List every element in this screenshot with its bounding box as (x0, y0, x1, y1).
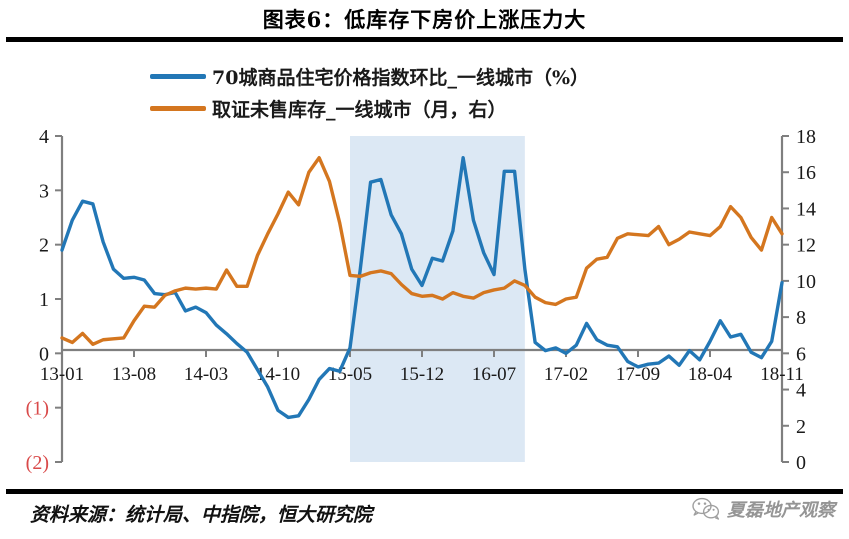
right-axis-label: 16 (796, 162, 816, 184)
x-axis-label: 18-04 (688, 364, 733, 385)
right-axis-label: 2 (796, 416, 806, 438)
left-axis-label: 2 (39, 235, 49, 257)
footer-divider (6, 489, 843, 494)
right-axis-label: 6 (796, 343, 806, 365)
watermark-label: 夏磊地产观察 (727, 496, 835, 522)
left-axis-label: 1 (39, 289, 49, 311)
x-axis-label: 14-03 (184, 364, 228, 385)
right-axis-label: 10 (796, 271, 816, 293)
x-axis-label: 13-08 (112, 364, 156, 385)
right-axis-label: 0 (796, 452, 806, 474)
left-axis-label: (1) (26, 398, 49, 420)
x-axis-label: 14-10 (256, 364, 300, 385)
highlight-band (350, 136, 525, 462)
x-axis-label: 16-07 (472, 364, 516, 385)
x-axis-label: 13-01 (40, 364, 84, 385)
chart-svg: 43210(1)(2)18161412108642013-0113-0814-0… (0, 0, 849, 480)
left-axis-label: 4 (39, 126, 49, 148)
x-axis-label: 18-11 (760, 364, 804, 385)
left-axis-label: 3 (39, 180, 49, 202)
chart-figure: 图表6：低库存下房价上涨压力大 70城商品住宅价格指数环比_一线城市（%） 取证… (0, 0, 849, 539)
left-axis-label: 0 (39, 343, 49, 365)
plot-area: 43210(1)(2)18161412108642013-0113-0814-0… (0, 0, 849, 480)
right-axis-label: 12 (796, 235, 816, 257)
right-axis-label: 8 (796, 307, 806, 329)
source-note: 资料来源：统计局、中指院，恒大研究院 (30, 500, 372, 527)
left-axis-label: (2) (26, 452, 49, 474)
x-axis-label: 17-02 (544, 364, 588, 385)
x-axis-label: 15-12 (400, 364, 444, 385)
x-axis-label: 15-05 (328, 364, 372, 385)
right-axis-label: 14 (796, 198, 816, 220)
wechat-icon (691, 497, 721, 521)
right-axis-label: 18 (796, 126, 816, 148)
watermark: 夏磊地产观察 (691, 496, 835, 522)
